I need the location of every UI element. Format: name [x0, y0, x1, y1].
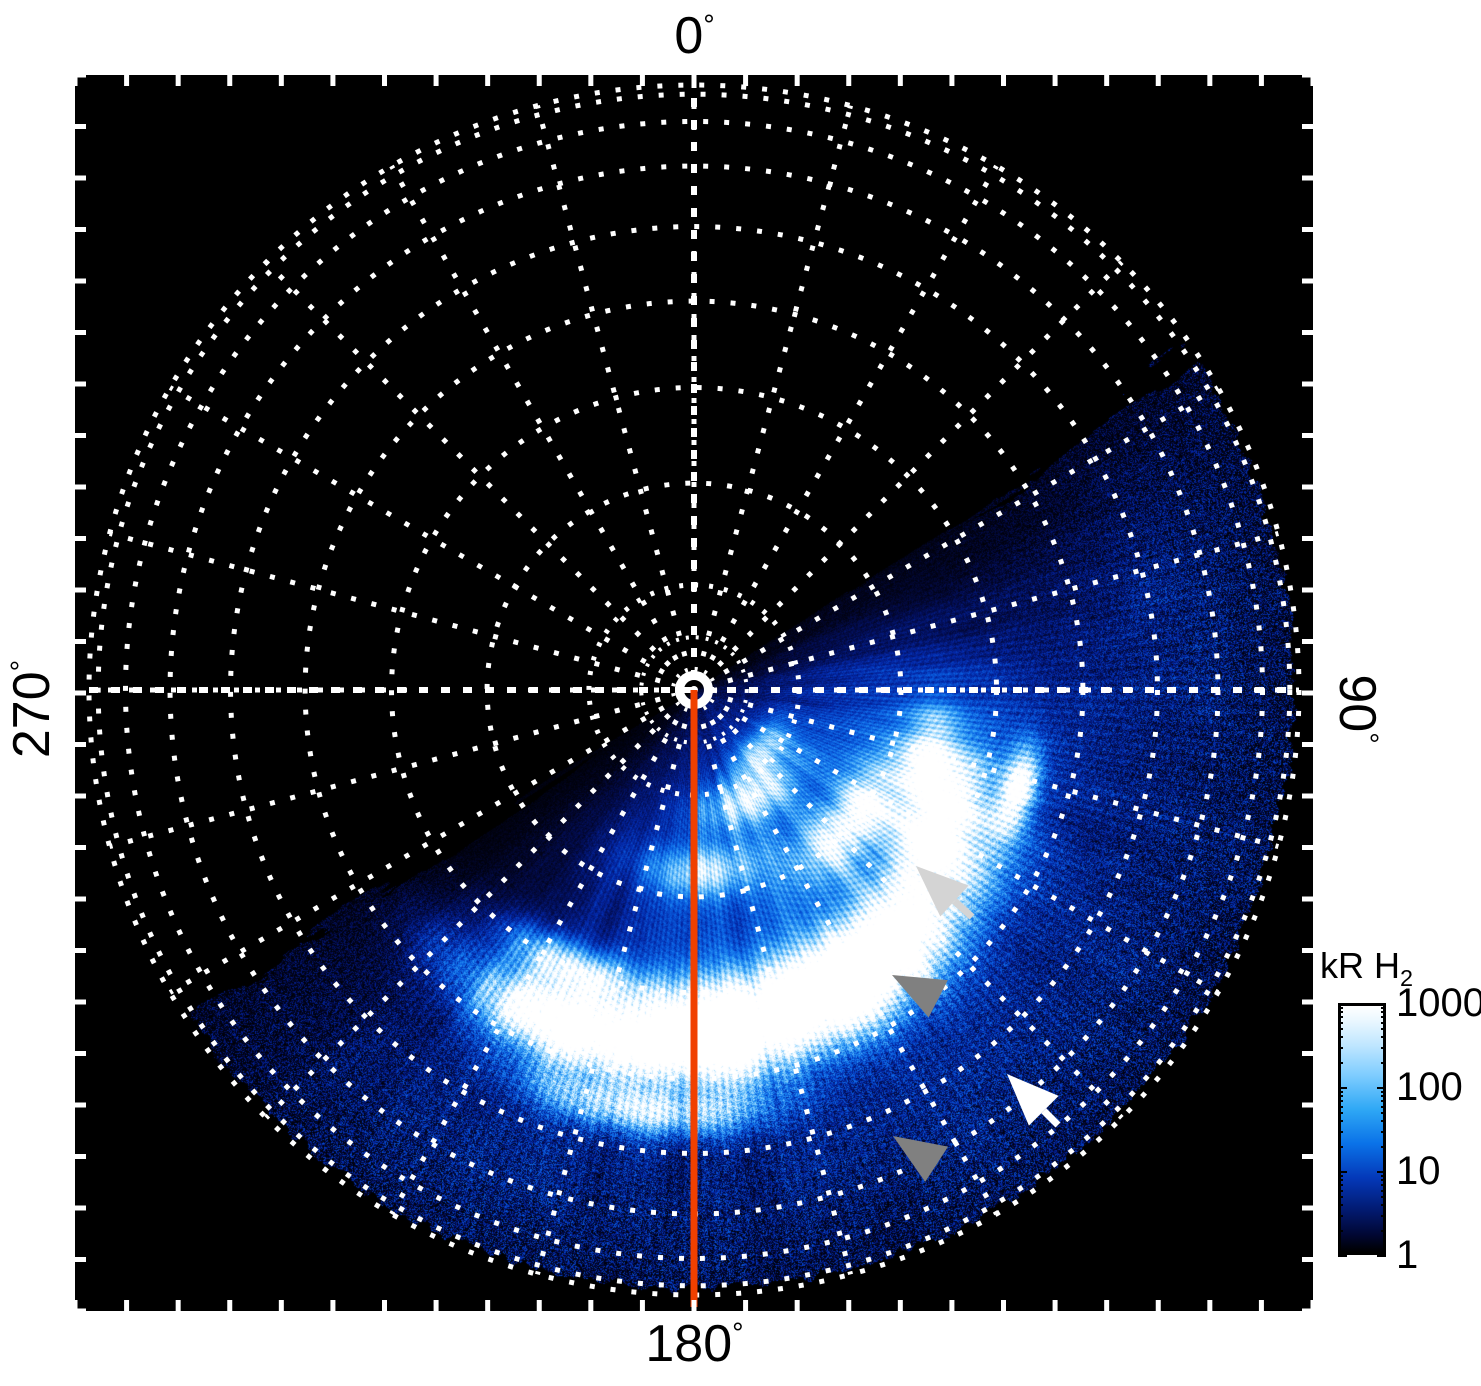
figure-canvas: 0° 180° 270° 90° kR H2 1000100101: [0, 0, 1481, 1386]
axis-label-180deg: 180°: [0, 1318, 1389, 1370]
polar-plot-svg: [75, 75, 1313, 1311]
colorbar-tick-label: 10: [1396, 1151, 1441, 1191]
polar-plot-area: [75, 75, 1313, 1311]
axis-label-90deg: 90°: [1331, 609, 1383, 809]
colorbar-tick-label: 1000: [1396, 983, 1481, 1023]
axis-label-0deg: 0°: [0, 10, 1389, 62]
axis-label-270deg: 270°: [6, 609, 58, 809]
colorbar-tick-label: 1: [1396, 1235, 1418, 1275]
colorbar-ticks-right: [1377, 1003, 1386, 1255]
colorbar-ticks-left: [1338, 1003, 1347, 1255]
colorbar: kR H2 1000100101: [1320, 945, 1480, 1325]
colorbar-tick-label: 100: [1396, 1067, 1463, 1107]
